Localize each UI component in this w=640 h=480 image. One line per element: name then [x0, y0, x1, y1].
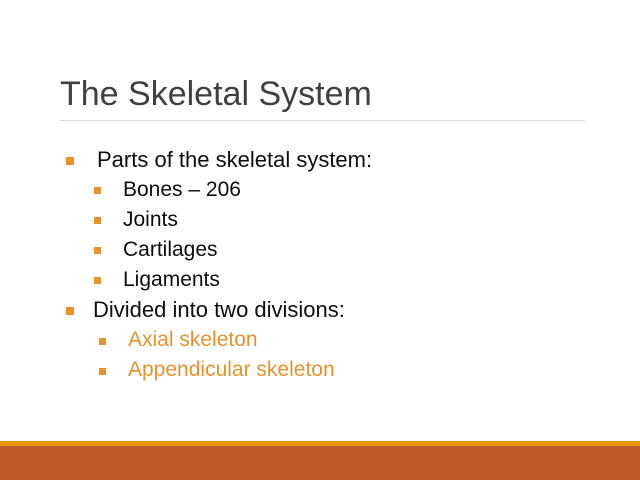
square-bullet-icon — [94, 217, 101, 224]
footer-band — [0, 446, 640, 480]
square-bullet-icon — [94, 247, 101, 254]
square-bullet-icon — [94, 187, 101, 194]
bullet-label: Parts of the skeletal system: — [97, 145, 372, 175]
slide-title-block: The Skeletal System — [60, 74, 585, 114]
bullet-item-level1: Parts of the skeletal system: — [0, 145, 640, 175]
bullet-label: Bones – 206 — [123, 175, 241, 205]
square-bullet-icon — [99, 338, 106, 345]
bullet-label: Cartilages — [123, 235, 218, 265]
bullet-item-level2: Ligaments — [0, 265, 640, 295]
bullet-item-level1: Divided into two divisions: — [0, 295, 640, 325]
bullet-item-level2: Joints — [0, 205, 640, 235]
square-bullet-icon — [94, 277, 101, 284]
bullet-label: Joints — [123, 205, 178, 235]
presentation-slide: The Skeletal System Parts of the skeleta… — [0, 0, 640, 480]
page-title: The Skeletal System — [60, 74, 585, 114]
bullet-item-level2: Bones – 206 — [0, 175, 640, 205]
bullet-label: Axial skeleton — [128, 325, 258, 355]
bullet-label: Appendicular skeleton — [128, 355, 335, 385]
bullet-item-level2-highlight: Appendicular skeleton — [0, 355, 640, 385]
title-divider — [60, 120, 585, 121]
bullet-item-level2-highlight: Axial skeleton — [0, 325, 640, 355]
square-bullet-icon — [66, 307, 74, 315]
square-bullet-icon — [66, 157, 74, 165]
slide-body: Parts of the skeletal system: Bones – 20… — [0, 145, 640, 385]
bullet-item-level2: Cartilages — [0, 235, 640, 265]
square-bullet-icon — [99, 368, 106, 375]
bullet-label: Divided into two divisions: — [93, 295, 345, 325]
bullet-label: Ligaments — [123, 265, 220, 295]
